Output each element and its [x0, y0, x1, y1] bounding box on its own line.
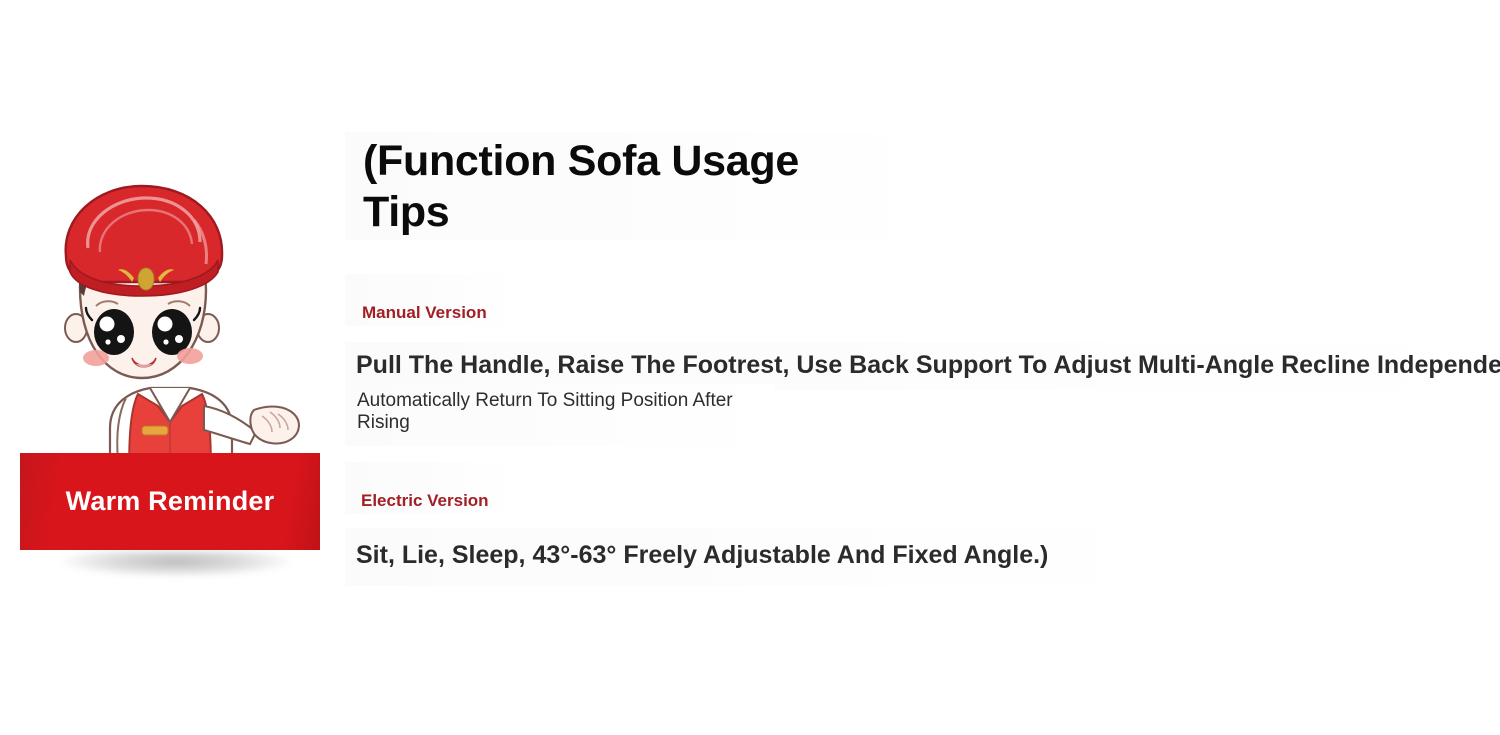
section-label-manual-version: Manual Version	[362, 304, 487, 321]
mascot-svg	[18, 160, 318, 490]
manual-sub-text: Automatically Return To Sitting Position…	[357, 390, 777, 435]
warm-reminder-banner-wrap: Warm Reminder	[20, 453, 320, 553]
page-title: (Function Sofa Usage Tips	[363, 136, 883, 237]
stewardess-mascot-illustration	[18, 160, 318, 490]
banner-drop-shadow	[62, 551, 290, 577]
manual-main-text: Pull The Handle, Raise The Footrest, Use…	[356, 350, 1500, 380]
mascot-column: Warm Reminder	[0, 160, 340, 600]
section-label-electric-version: Electric Version	[361, 492, 489, 509]
warm-reminder-label: Warm Reminder	[66, 488, 275, 515]
electric-main-text: Sit, Lie, Sleep, 43°-63° Freely Adjustab…	[356, 540, 1048, 570]
promo-page: Warm Reminder (Function Sofa Usage Tips …	[0, 0, 1500, 735]
warm-reminder-banner: Warm Reminder	[20, 453, 320, 550]
